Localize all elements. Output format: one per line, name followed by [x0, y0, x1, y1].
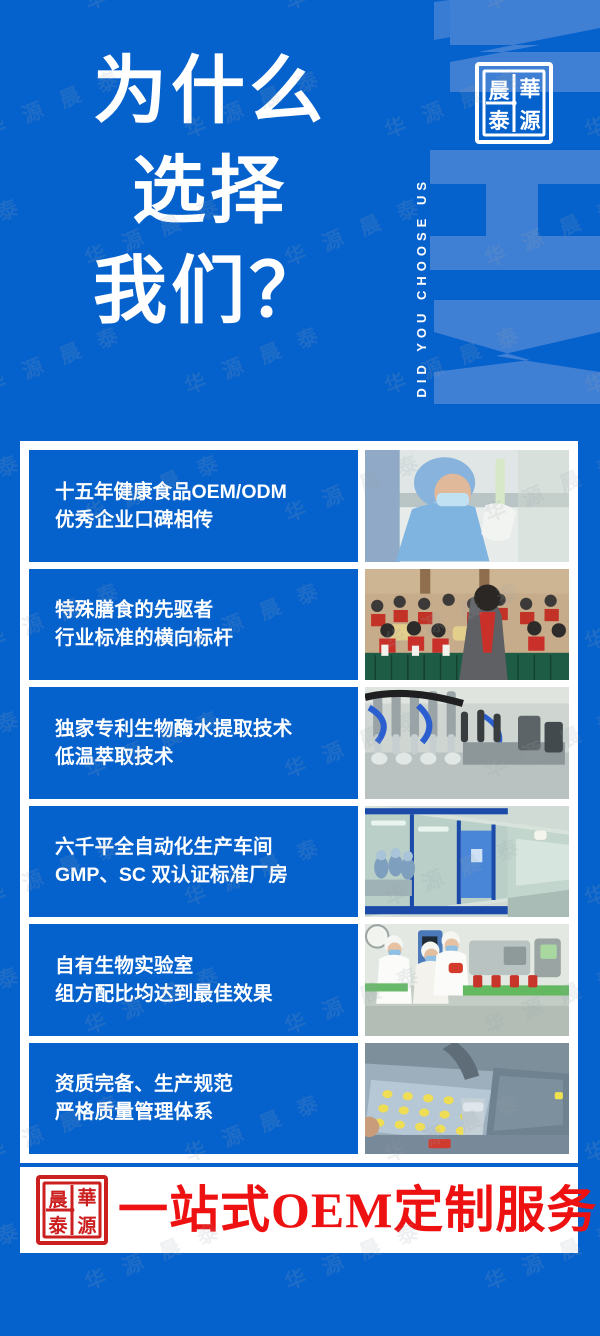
feature-5-line-2: 组方配比均达到最佳效果 [55, 980, 358, 1008]
bottom-slogan-banner: 晨 華 泰 源 一站式OEM定制服务 [20, 1167, 578, 1253]
feature-1-line-2: 优秀企业口碑相传 [55, 506, 358, 534]
feature-row: 独家专利生物酶水提取技术 低温萃取技术 [29, 687, 569, 799]
title-line-2: 选择 [0, 142, 420, 242]
feature-2-line-2: 行业标准的横向标杆 [55, 624, 358, 652]
footer-seal-icon: 晨 華 泰 源 [34, 1174, 110, 1246]
feature-photo-packaging-staff [365, 924, 569, 1036]
feature-6-line-1: 资质完备、生产规范 [55, 1070, 358, 1098]
feature-text-1: 十五年健康食品OEM/ODM 优秀企业口碑相传 [29, 450, 358, 562]
feature-photo-blister-pack-machine [365, 1043, 569, 1155]
feature-photo-cleanroom-corridor [365, 806, 569, 918]
watermark-text: 华 源 晨 泰 [580, 1085, 600, 1169]
feature-5-line-1: 自有生物实验室 [55, 952, 358, 980]
page-title: 为什么 选择 我们？ [0, 42, 420, 342]
svg-text:源: 源 [520, 109, 541, 133]
watermark-text: 华 源 晨 泰 [580, 317, 600, 401]
svg-text:源: 源 [77, 1214, 96, 1237]
brand-seal-icon: 晨 華 泰 源 [472, 58, 556, 148]
feature-3-line-2: 低温萃取技术 [55, 743, 358, 771]
svg-text:晨: 晨 [48, 1189, 68, 1211]
footer-slogan: 一站式OEM定制服务 [118, 1183, 597, 1237]
poster-root: 为什么 选择 我们？ DID YOU CHOOSE US 晨 華 泰 源 [0, 0, 600, 1336]
watermark-text: 华 源 晨 泰 [80, 0, 229, 17]
svg-text:華: 華 [77, 1186, 96, 1209]
feature-row: 特殊膳食的先驱者 行业标准的横向标杆 [29, 569, 569, 681]
feature-3-line-1: 独家专利生物酶水提取技术 [55, 715, 358, 743]
svg-text:華: 華 [520, 77, 541, 101]
feature-list: 十五年健康食品OEM/ODM 优秀企业口碑相传 [20, 441, 578, 1163]
svg-text:泰: 泰 [488, 109, 511, 133]
feature-6-line-2: 严格质量管理体系 [55, 1098, 358, 1126]
feature-text-4: 六千平全自动化生产车间 GMP、SC 双认证标准厂房 [29, 806, 358, 918]
feature-photo-lab-technician [365, 450, 569, 562]
feature-row: 六千平全自动化生产车间 GMP、SC 双认证标准厂房 [29, 806, 569, 918]
feature-1-line-1: 十五年健康食品OEM/ODM [55, 478, 358, 506]
feature-text-3: 独家专利生物酶水提取技术 低温萃取技术 [29, 687, 358, 799]
feature-row: 十五年健康食品OEM/ODM 优秀企业口碑相传 [29, 450, 569, 562]
watermark-text: 华 源 晨 泰 [480, 189, 600, 273]
title-line-3: 我们？ [0, 242, 420, 342]
watermark-text: 华 源 晨 泰 [480, 0, 600, 17]
feature-photo-conference-hall [365, 569, 569, 681]
vertical-caption: DID YOU CHOOSE US [408, 28, 434, 398]
feature-text-2: 特殊膳食的先驱者 行业标准的横向标杆 [29, 569, 358, 681]
watermark-text: 华 源 晨 泰 [280, 0, 429, 17]
feature-text-6: 资质完备、生产规范 严格质量管理体系 [29, 1043, 358, 1155]
feature-photo-filling-line [365, 687, 569, 799]
vertical-caption-text: DID YOU CHOOSE US [414, 177, 429, 398]
watermark-text: 华 源 晨 泰 [0, 0, 29, 17]
watermark-text: 华 源 晨 泰 [580, 61, 600, 145]
title-line-1: 为什么 [0, 42, 420, 142]
svg-text:泰: 泰 [47, 1214, 68, 1237]
watermark-text: 华 源 晨 泰 [580, 829, 600, 913]
svg-text:晨: 晨 [489, 79, 511, 103]
feature-row: 资质完备、生产规范 严格质量管理体系 [29, 1043, 569, 1155]
feature-row: 自有生物实验室 组方配比均达到最佳效果 [29, 924, 569, 1036]
feature-text-5: 自有生物实验室 组方配比均达到最佳效果 [29, 924, 358, 1036]
feature-4-line-1: 六千平全自动化生产车间 [55, 833, 358, 861]
feature-4-line-2: GMP、SC 双认证标准厂房 [55, 861, 358, 889]
watermark-text: 华 源 晨 泰 [580, 573, 600, 657]
feature-2-line-1: 特殊膳食的先驱者 [55, 596, 358, 624]
